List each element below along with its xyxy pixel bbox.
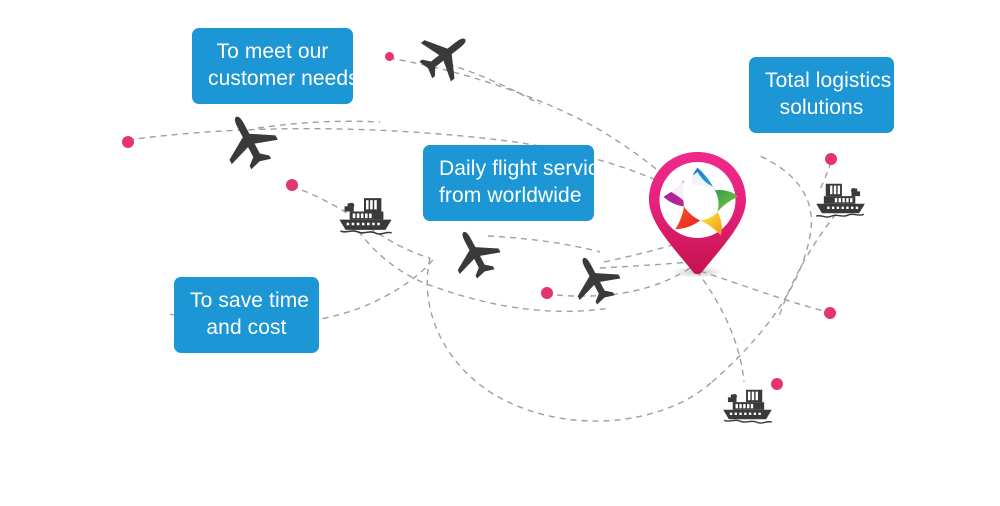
callout-save-time-and-cost[interactable]: To save time and cost — [174, 277, 319, 353]
callout-daily-flight-service-line2: from worldwide — [439, 182, 578, 209]
callouts-layer: To meet our customer needs Total logisti… — [0, 0, 1000, 506]
callout-meet-customer-needs-line1: To meet our — [208, 38, 337, 65]
callout-daily-flight-service[interactable]: Daily flight service from worldwide — [423, 145, 594, 221]
world-map-infographic: To meet our customer needs Total logisti… — [0, 0, 1000, 506]
callout-save-time-and-cost-line2: and cost — [190, 314, 303, 341]
callout-total-logistics-solutions-line2: solutions — [765, 94, 878, 121]
callout-meet-customer-needs[interactable]: To meet our customer needs — [192, 28, 353, 104]
callout-daily-flight-service-line1: Daily flight service — [439, 155, 578, 182]
callout-total-logistics-solutions-line1: Total logistics — [765, 67, 878, 94]
callout-meet-customer-needs-line2: customer needs — [208, 65, 337, 92]
callout-save-time-and-cost-line1: To save time — [190, 287, 303, 314]
callout-total-logistics-solutions[interactable]: Total logistics solutions — [749, 57, 894, 133]
